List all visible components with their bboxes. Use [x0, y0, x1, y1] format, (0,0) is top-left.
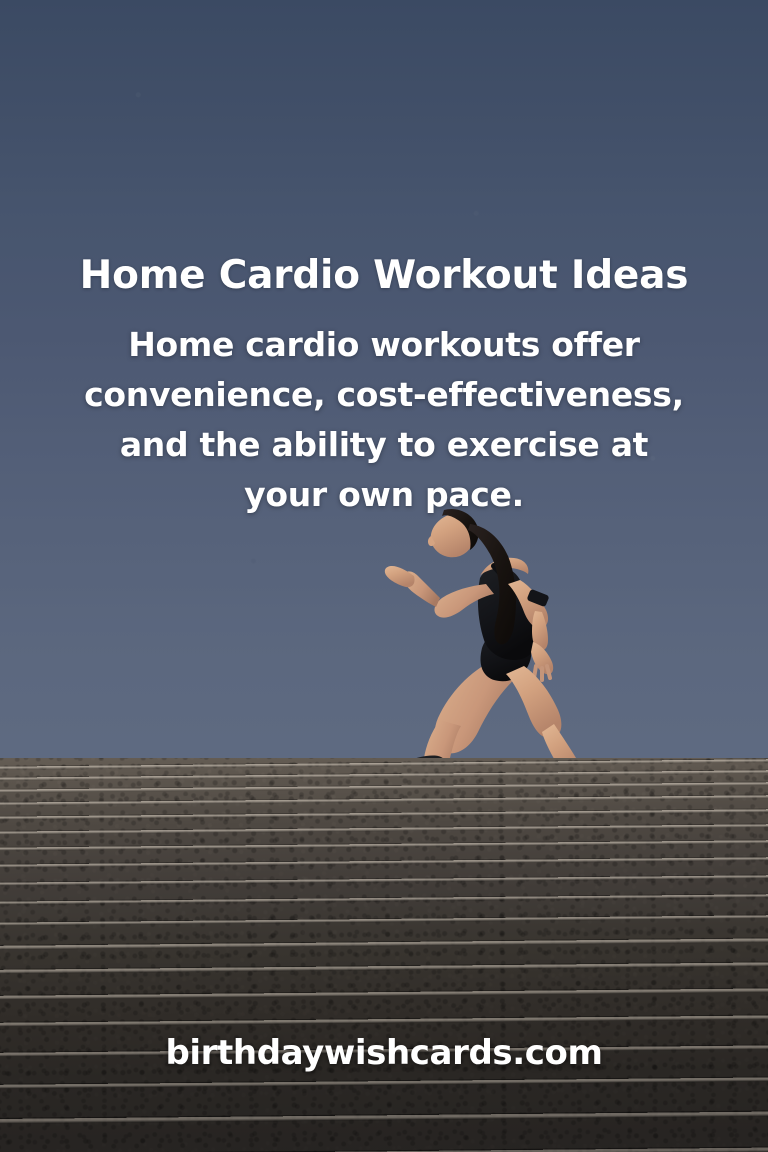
pinterest-pin-graphic: Home Cardio Workout Ideas Home cardio wo… — [0, 0, 768, 1152]
runner-photo-subject — [330, 480, 640, 800]
runner-rear-hand — [385, 566, 415, 587]
concrete-grain-texture — [0, 758, 768, 1152]
pin-subtitle: Home cardio workouts offer convenience, … — [84, 320, 684, 520]
page-title: Home Cardio Workout Ideas — [0, 252, 768, 300]
concrete-staircase — [0, 758, 768, 1152]
site-url-watermark[interactable]: birthdaywishcards.com — [0, 1032, 768, 1074]
